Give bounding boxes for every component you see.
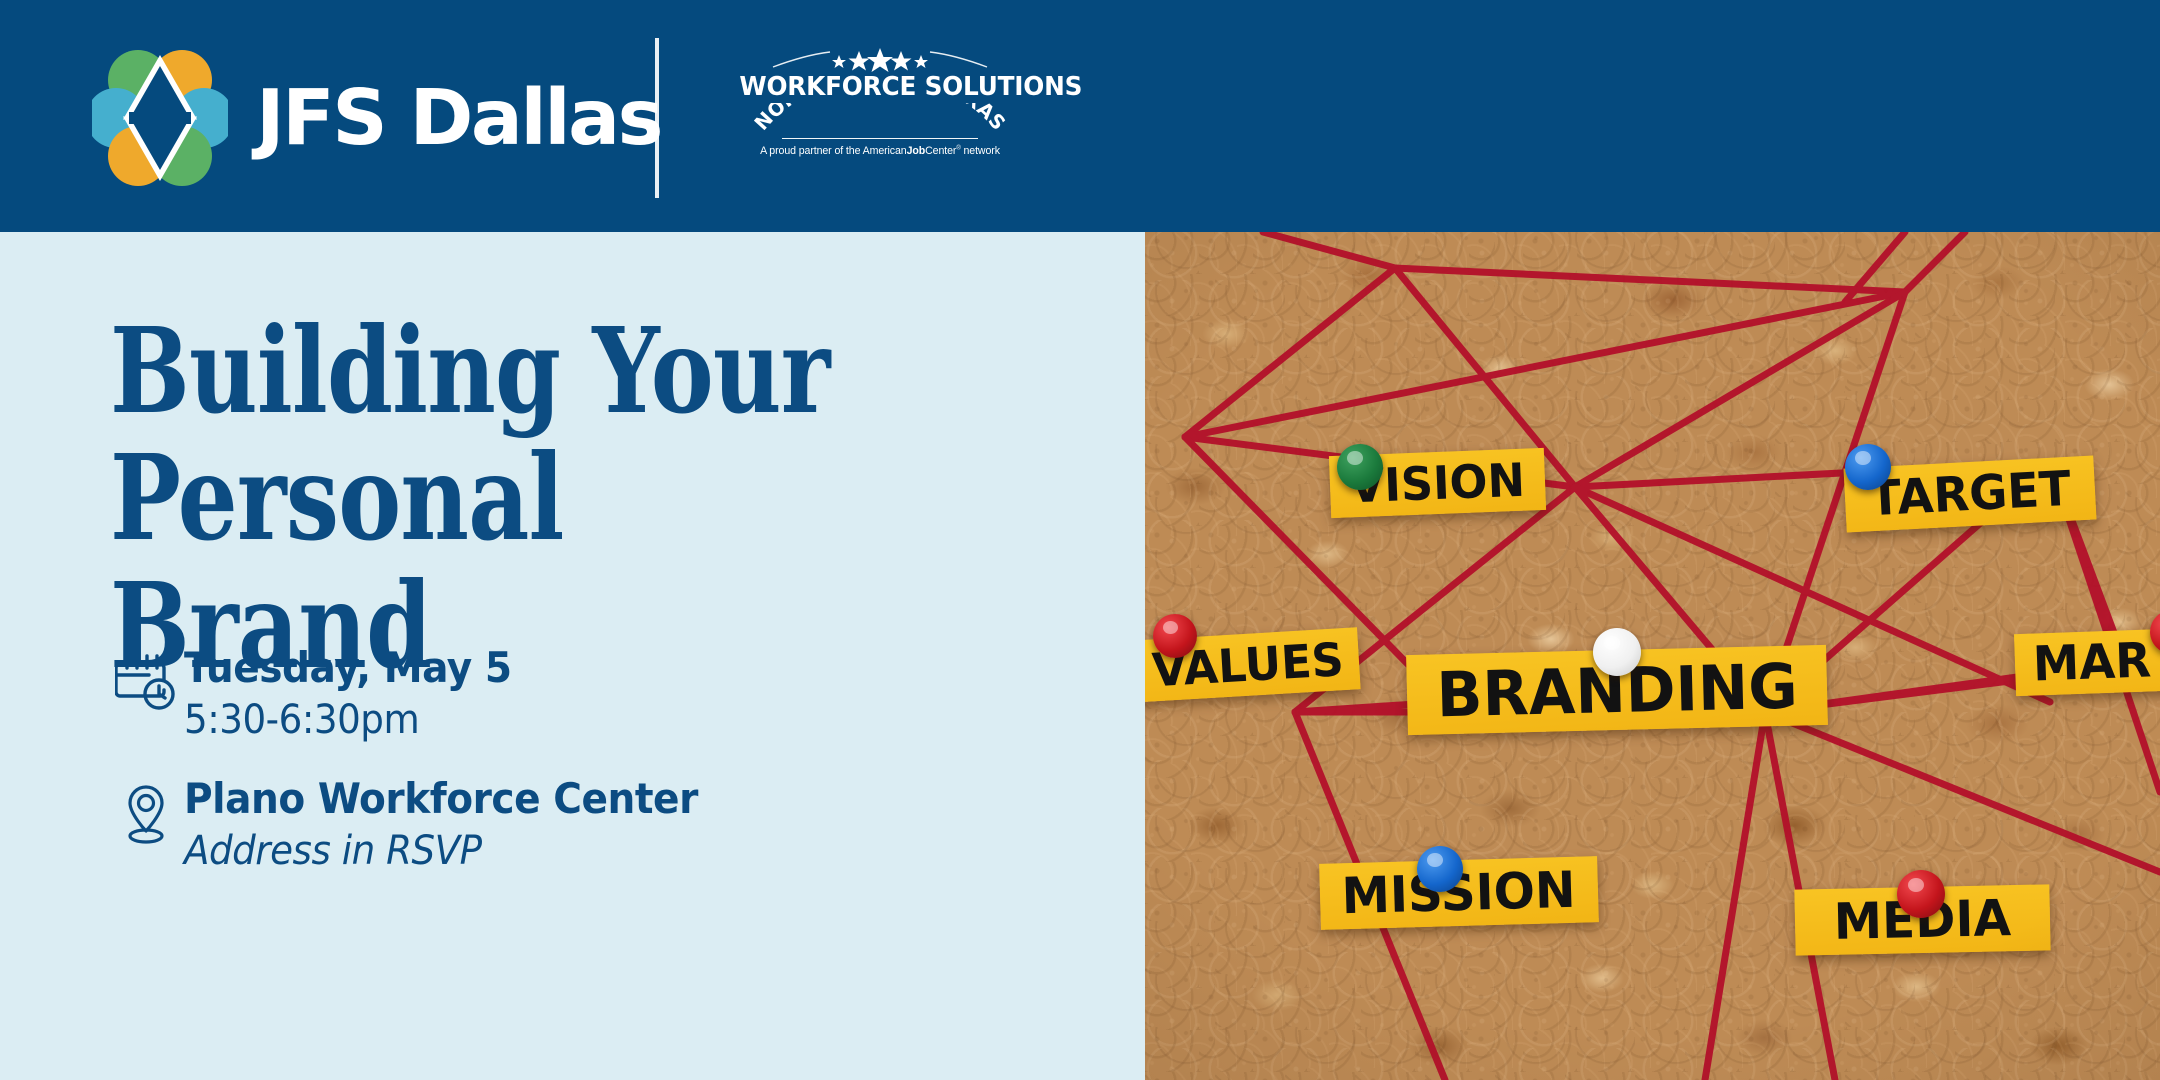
tagline-american: American bbox=[863, 145, 907, 157]
american-job-center-tagline: A proud partner of the AmericanJobCenter… bbox=[735, 145, 1025, 157]
workforce-solutions-title: WORKFORCE SOLUTIONS bbox=[739, 75, 1020, 101]
workforce-solutions-logo: WORKFORCE SOLUTIONS NORTH CENTRAL TEXAS … bbox=[735, 48, 1025, 188]
event-time: 5:30-6:30pm bbox=[184, 695, 1025, 745]
event-location-row: Plano Workforce Center Address in RSVP bbox=[108, 775, 1088, 876]
svg-text:NORTH CENTRAL TEXAS: NORTH CENTRAL TEXAS bbox=[750, 103, 1010, 135]
page-title: Building Your Personal Brand bbox=[110, 307, 910, 689]
jfs-dallas-logo: JFS Dallas bbox=[92, 48, 661, 188]
north-central-texas-arch: NORTH CENTRAL TEXAS bbox=[735, 103, 1025, 133]
event-date: Tuesday, May 5 bbox=[184, 644, 1025, 691]
event-venue: Plano Workforce Center bbox=[184, 775, 1025, 822]
event-date-text: Tuesday, May 5 5:30-6:30pm bbox=[184, 644, 1088, 745]
header-divider bbox=[655, 38, 659, 198]
map-pin-icon bbox=[108, 775, 184, 847]
corkboard-photo: VISION TARGET VALUES BRANDING MAR bbox=[1145, 232, 2160, 1080]
jfs-dallas-wordmark: JFS Dallas bbox=[256, 80, 661, 157]
calendar-clock-icon bbox=[108, 644, 184, 714]
tagline-center: Center bbox=[925, 145, 956, 157]
tagline-prefix: A proud partner of the bbox=[760, 145, 863, 157]
event-location-text: Plano Workforce Center Address in RSVP bbox=[184, 775, 1088, 876]
photo-vignette bbox=[1145, 232, 2160, 1080]
five-stars-icon bbox=[735, 48, 1025, 74]
header-bar: JFS Dallas WORKFORCE SOLUTIONS bbox=[0, 0, 2160, 232]
partner-divider-rule bbox=[782, 138, 978, 140]
flyer-canvas: JFS Dallas WORKFORCE SOLUTIONS bbox=[0, 0, 2160, 1080]
event-date-row: Tuesday, May 5 5:30-6:30pm bbox=[108, 644, 1088, 745]
tagline-job: Job bbox=[907, 145, 926, 157]
event-info-panel: Building Your Personal Brand Tuesday, Ma… bbox=[0, 232, 1145, 1080]
tagline-suffix: network bbox=[961, 145, 1000, 157]
event-details: Tuesday, May 5 5:30-6:30pm Plano Workfor… bbox=[108, 644, 1088, 906]
jfs-star-of-david-flower-logo bbox=[92, 48, 228, 188]
event-address-note: Address in RSVP bbox=[184, 826, 1025, 876]
